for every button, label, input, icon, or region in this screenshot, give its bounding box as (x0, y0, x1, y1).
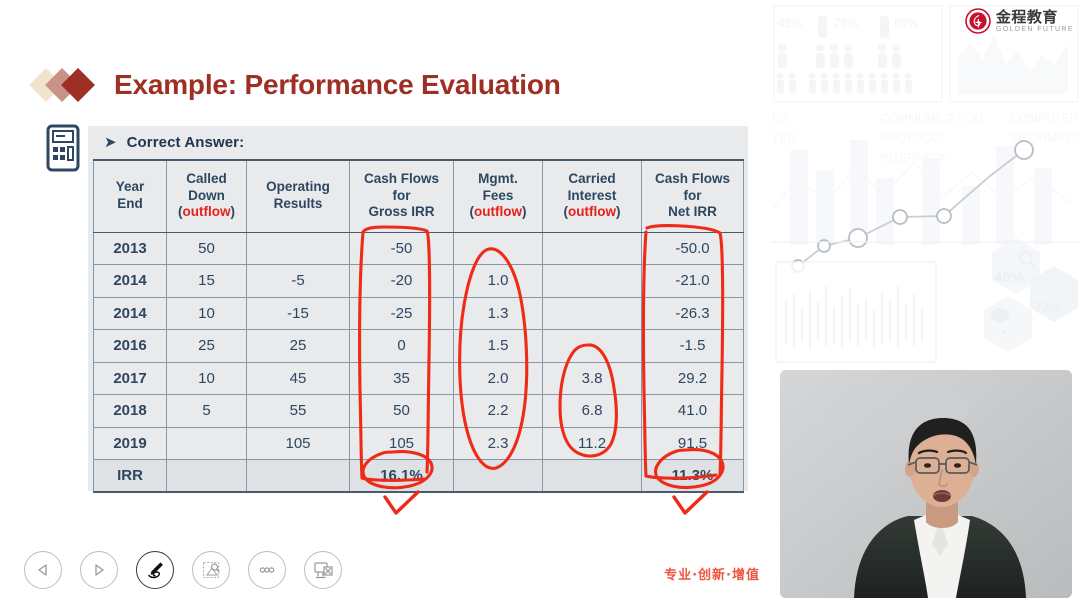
cell-called_down: 50 (167, 232, 247, 265)
header-line: Operating (249, 179, 347, 195)
table-header: YearEndCalledDown(outflow)OperatingResul… (94, 160, 744, 232)
cell-operating: 45 (247, 362, 350, 395)
cell-cf_gross: 35 (350, 362, 454, 395)
cell-called_down: 10 (167, 362, 247, 395)
header-outflow-note: (outflow) (545, 204, 639, 220)
table-row: 20171045352.03.829.2 (94, 362, 744, 395)
cell-cf_net: 91.5 (642, 427, 744, 460)
cell-mgmt_fees: 2.0 (454, 362, 543, 395)
cell-cf_net: -21.0 (642, 265, 744, 298)
company-slogan: 专业·创新·增值 (664, 564, 760, 583)
more-options-button[interactable] (248, 551, 286, 589)
answer-card: ➤ Correct Answer: YearEndCalledDown(outf… (88, 126, 748, 491)
col-header-cf_gross: Cash FlowsforGross IRR (350, 160, 454, 232)
table-row: 20191051052.311.291.5 (94, 427, 744, 460)
col-header-year_end: YearEnd (94, 160, 167, 232)
table-header-row: YearEndCalledDown(outflow)OperatingResul… (94, 160, 744, 232)
slide-title-row: Example: Performance Evaluation (34, 68, 561, 102)
summary-cell-carried (543, 460, 642, 493)
zoom-region-button[interactable] (192, 551, 230, 589)
col-header-cf_net: Cash FlowsforNet IRR (642, 160, 744, 232)
header-line: Net IRR (644, 204, 741, 220)
cell-cf_gross: -50 (350, 232, 454, 265)
cell-mgmt_fees: 2.2 (454, 395, 543, 428)
outflow-word: outflow (183, 204, 231, 219)
instructor-webcam-feed[interactable] (780, 370, 1072, 598)
cell-cf_net: 29.2 (642, 362, 744, 395)
summary-cell-mgmt_fees (454, 460, 543, 493)
svg-text:73%: 73% (834, 16, 858, 30)
summary-cell-year_end: IRR (94, 460, 167, 493)
page-title: Example: Performance Evaluation (114, 69, 561, 101)
cell-called_down: 5 (167, 395, 247, 428)
header-outflow-note: (outflow) (456, 204, 540, 220)
header-line: for (644, 188, 741, 204)
summary-cell-cf_net: 11.3% (642, 460, 744, 493)
cell-cf_net: -26.3 (642, 297, 744, 330)
cell-carried (543, 330, 642, 363)
header-line: Cash Flows (352, 171, 451, 187)
checkmark-net-irr (674, 492, 707, 513)
cell-cf_net: -50.0 (642, 232, 744, 265)
cell-carried (543, 297, 642, 330)
table-row: 2018555502.26.841.0 (94, 395, 744, 428)
header-line: Year (96, 179, 164, 195)
col-header-mgmt_fees: Mgmt.Fees(outflow) (454, 160, 543, 232)
pen-annotation-button[interactable] (136, 551, 174, 589)
triangle-right-icon (91, 562, 107, 578)
svg-text:40%: 40% (994, 269, 1024, 286)
cell-cf_gross: 50 (350, 395, 454, 428)
cell-mgmt_fees: 1.0 (454, 265, 543, 298)
col-header-operating: OperatingResults (247, 160, 350, 232)
cell-operating (247, 232, 350, 265)
svg-text:ES: ES (772, 111, 788, 125)
cell-called_down: 10 (167, 297, 247, 330)
cell-carried: 3.8 (543, 362, 642, 395)
header-line: Mgmt. (456, 171, 540, 187)
header-line: Results (249, 196, 347, 212)
svg-text:72%: 72% (1034, 299, 1063, 315)
cell-year_end: 2013 (94, 232, 167, 265)
right-sidebar: 42% 73% 86% (772, 0, 1080, 607)
table-row: 201350-50-50.0 (94, 232, 744, 265)
cell-year_end: 2018 (94, 395, 167, 428)
cell-cf_gross: 0 (350, 330, 454, 363)
header-line: Cash Flows (644, 171, 741, 187)
header-line: Carried (545, 171, 639, 187)
cell-cf_gross: 105 (350, 427, 454, 460)
cell-year_end: 2019 (94, 427, 167, 460)
header-line: Called (169, 171, 244, 187)
magnify-region-icon (200, 559, 222, 581)
arrow-bullet-icon: ➤ (104, 135, 117, 150)
outflow-word: outflow (474, 204, 522, 219)
next-slide-button[interactable] (80, 551, 118, 589)
cell-called_down: 15 (167, 265, 247, 298)
cell-carried: 6.8 (543, 395, 642, 428)
cell-mgmt_fees (454, 232, 543, 265)
summary-cell-cf_gross: 16.1% (350, 460, 454, 493)
triangle-left-icon (35, 562, 51, 578)
svg-text:TER: TER (772, 131, 796, 145)
calculator-icon (45, 124, 81, 172)
pen-icon (144, 559, 166, 581)
slideshow-toolbar[interactable] (24, 551, 342, 589)
cell-operating: -5 (247, 265, 350, 298)
header-line: for (352, 188, 451, 204)
table-row: 201410-15-251.3-26.3 (94, 297, 744, 330)
checkmark-gross-irr (385, 492, 418, 513)
brand-name-en: GOLDEN FUTURE (996, 26, 1074, 33)
svg-text:PROTOCOL: PROTOCOL (880, 131, 947, 145)
cell-year_end: 2014 (94, 297, 167, 330)
slide-canvas: Example: Performance Evaluation ➤ Correc… (0, 0, 772, 607)
header-line: Fees (456, 188, 540, 204)
end-presentation-icon (312, 559, 334, 581)
cell-mgmt_fees: 1.5 (454, 330, 543, 363)
table-summary-row: IRR16.1%11.3% (94, 460, 744, 493)
cell-operating: 105 (247, 427, 350, 460)
cell-carried: 11.2 (543, 427, 642, 460)
cell-carried (543, 232, 642, 265)
summary-cell-called_down (167, 460, 247, 493)
header-line: Gross IRR (352, 204, 451, 220)
correct-answer-header: ➤ Correct Answer: (88, 126, 748, 158)
header-line: Interest (545, 188, 639, 204)
svg-text:COMPUTER: COMPUTER (1010, 111, 1079, 125)
header-outflow-note: (outflow) (169, 204, 244, 220)
brand-name-cn: 金程教育 (996, 10, 1074, 25)
cell-year_end: 2016 (94, 330, 167, 363)
correct-answer-label: Correct Answer: (127, 134, 245, 151)
cell-called_down: 25 (167, 330, 247, 363)
cell-operating: 55 (247, 395, 350, 428)
header-line: End (96, 196, 164, 212)
presentation-viewer: Example: Performance Evaluation ➤ Correc… (0, 0, 1080, 607)
brand-logo: 金程教育 GOLDEN FUTURE (965, 8, 1074, 34)
cell-mgmt_fees: 2.3 (454, 427, 543, 460)
cell-called_down (167, 427, 247, 460)
cell-mgmt_fees: 1.3 (454, 297, 543, 330)
cell-operating: 25 (247, 330, 350, 363)
diamond-decoration-icon (34, 68, 100, 102)
summary-cell-operating (247, 460, 350, 493)
table-row: 2016252501.5-1.5 (94, 330, 744, 363)
cell-year_end: 2017 (94, 362, 167, 395)
cell-cf_net: 41.0 (642, 395, 744, 428)
previous-slide-button[interactable] (24, 551, 62, 589)
col-header-carried: CarriedInterest(outflow) (543, 160, 642, 232)
svg-text:COMMUNICATION: COMMUNICATION (880, 111, 983, 125)
table-body: 201350-50-50.0201415-5-201.0-21.0201410-… (94, 232, 744, 492)
col-header-called_down: CalledDown(outflow) (167, 160, 247, 232)
ellipsis-icon (256, 559, 278, 581)
cell-cf_gross: -20 (350, 265, 454, 298)
irr-table: YearEndCalledDown(outflow)OperatingResul… (93, 159, 744, 493)
table-row: 201415-5-201.0-21.0 (94, 265, 744, 298)
cell-year_end: 2014 (94, 265, 167, 298)
svg-text:42%: 42% (778, 16, 802, 30)
golden-future-seal-icon (965, 8, 991, 34)
background-infographic: 42% 73% 86% (772, 0, 1080, 370)
cell-cf_net: -1.5 (642, 330, 744, 363)
cell-operating: -15 (247, 297, 350, 330)
header-line: Down (169, 188, 244, 204)
svg-text:86%: 86% (894, 16, 918, 30)
cell-cf_gross: -25 (350, 297, 454, 330)
outflow-word: outflow (568, 204, 616, 219)
cell-carried (543, 265, 642, 298)
end-show-button[interactable] (304, 551, 342, 589)
